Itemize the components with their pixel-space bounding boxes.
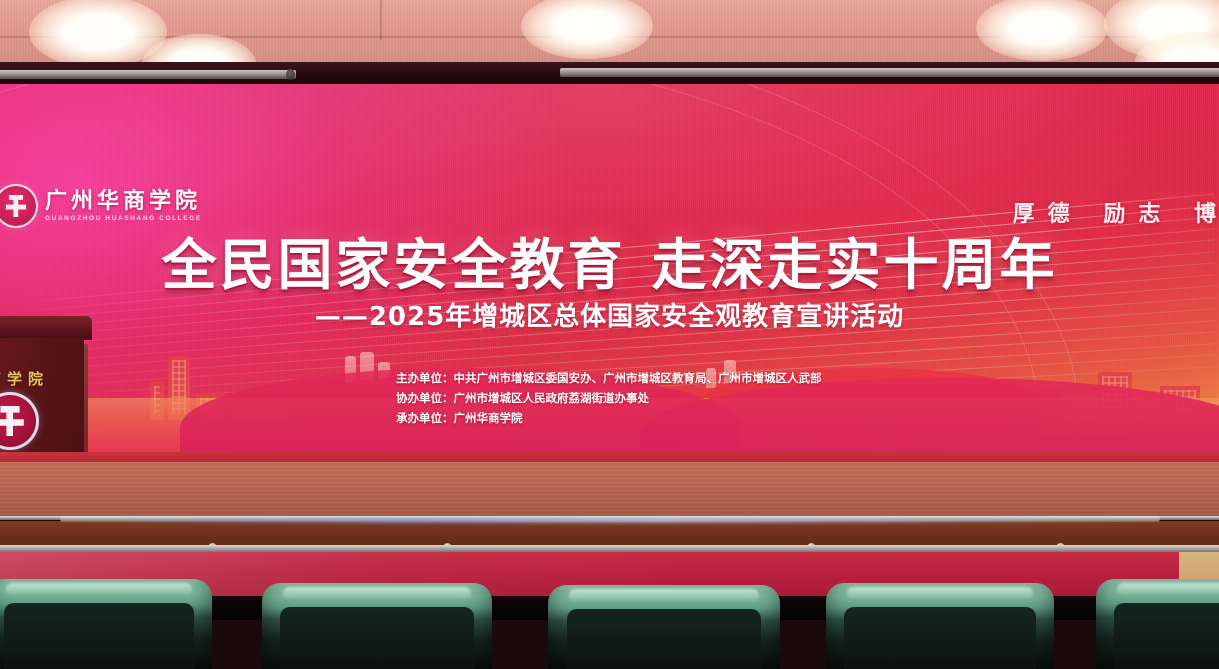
seat-inner-shadow xyxy=(567,609,762,669)
main-title-part2: 走深走实十周年 xyxy=(652,233,1058,297)
podium-gold-text: 商学院 xyxy=(0,368,82,389)
stage-deck-texture xyxy=(0,462,1219,520)
main-title-part1: 全民国家安全教育 xyxy=(161,233,625,297)
seat-back xyxy=(0,579,212,669)
seat-back xyxy=(1096,579,1219,669)
seat-back xyxy=(826,583,1054,669)
auditorium-seat xyxy=(262,583,492,669)
seat-highlight xyxy=(6,583,191,596)
organizer-line-co: 协办单位：广州市增城区人民政府荔湖街道办事处 xyxy=(396,388,822,408)
seat-highlight xyxy=(847,587,1034,600)
seat-inner-shadow xyxy=(844,607,1036,669)
seat-inner-shadow xyxy=(280,607,473,669)
stage-deck xyxy=(0,462,1219,520)
banner-main-title: 全民国家安全教育走深走实十周年 xyxy=(0,220,1219,300)
seat-highlight xyxy=(283,587,472,600)
stage-backdrop-banner: 广州华商学院 GUANGZHOU HUASHANG COLLEGE 厚德 励志 … xyxy=(0,84,1219,458)
truss-bar-right xyxy=(560,68,1219,77)
organizer-line-undertaker: 承办单位：广州华商学院 xyxy=(396,408,822,428)
organizer-block: 主办单位：中共广州市增城区委国安办、广州市增城区教育局、广州市增城区人武部 协办… xyxy=(396,368,822,428)
seat-back xyxy=(262,583,492,669)
stage-rail-glow xyxy=(60,518,1160,523)
seat-back xyxy=(548,585,780,669)
college-name-block: 广州华商学院 GUANGZHOU HUASHANG COLLEGE xyxy=(45,190,202,223)
auditorium-seat xyxy=(1096,579,1219,669)
truss-cap xyxy=(286,69,295,80)
seat-inner-shadow xyxy=(4,603,194,669)
auditorium-seat xyxy=(548,585,780,669)
college-name-cn: 广州华商学院 xyxy=(45,190,202,213)
podium-top xyxy=(0,316,92,340)
ceiling-seam xyxy=(380,0,382,40)
banner-subtitle: ——2025年增城区总体国家安全观教育宣讲活动 xyxy=(0,296,1219,333)
truss-bar-left xyxy=(0,70,296,79)
auditorium-seat xyxy=(826,583,1054,669)
seat-highlight xyxy=(569,589,759,602)
auditorium-scene: 广州华商学院 GUANGZHOU HUASHANG COLLEGE 厚德 励志 … xyxy=(0,0,1219,669)
seat-highlight xyxy=(1117,583,1219,596)
seat-inner-shadow xyxy=(1114,603,1219,669)
organizer-line-host: 主办单位：中共广州市增城区委国安办、广州市增城区教育局、广州市增城区人武部 xyxy=(396,368,822,388)
auditorium-seat xyxy=(0,579,212,669)
